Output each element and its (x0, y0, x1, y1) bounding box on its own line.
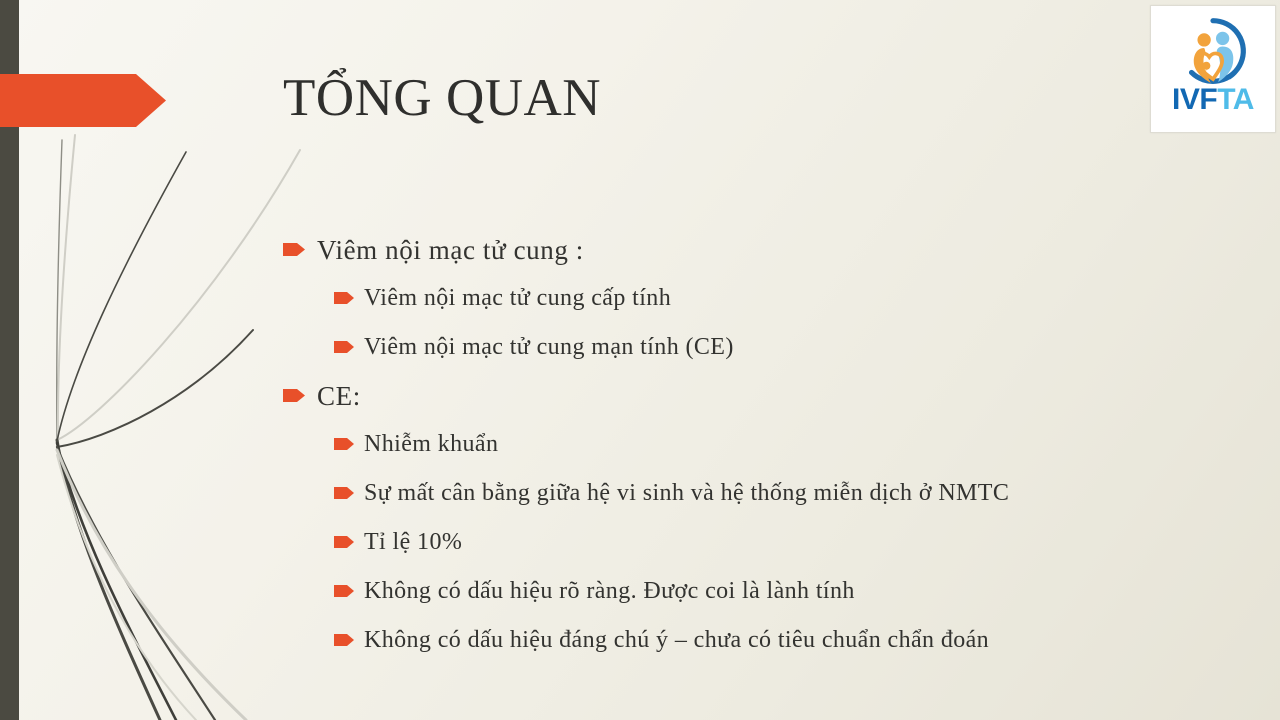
bullet-text: Không có dấu hiệu đáng chú ý – chưa có t… (364, 616, 989, 665)
bullet-item: Viêm nội mạc tử cung cấp tính (334, 274, 1183, 323)
bullet-text: Viêm nội mạc tử cung cấp tính (364, 274, 671, 323)
pennant-bullet-icon (334, 536, 354, 548)
bullet-text: Không có dấu hiệu rõ ràng. Được coi là l… (364, 567, 855, 616)
page-title: TỔNG QUAN (283, 68, 601, 128)
family-heart-emblem-icon (1176, 14, 1250, 88)
bullet-item: Viêm nội mạc tử cung : (283, 226, 1183, 274)
pennant-bullet-icon (334, 487, 354, 499)
pennant-bullet-icon (334, 292, 354, 304)
bullet-item: Sự mất cân bằng giữa hệ vi sinh và hệ th… (334, 469, 1183, 518)
ivfta-logo: IVFTA (1150, 5, 1276, 133)
slide-body: Viêm nội mạc tử cung : Viêm nội mạc tử c… (283, 226, 1183, 665)
bullet-text: Viêm nội mạc tử cung mạn tính (CE) (364, 323, 734, 372)
bullet-text: Tỉ lệ 10% (364, 518, 462, 567)
bullet-item: Không có dấu hiệu rõ ràng. Được coi là l… (334, 567, 1183, 616)
bullet-item: Viêm nội mạc tử cung mạn tính (CE) (334, 323, 1183, 372)
bullet-item: Tỉ lệ 10% (334, 518, 1183, 567)
orange-arrow-banner (0, 74, 166, 127)
pennant-bullet-icon (283, 389, 305, 402)
pennant-bullet-icon (334, 634, 354, 646)
slide-canvas: TỔNG QUAN IVFTA Viêm nội mạc tử cung (0, 0, 1280, 720)
logo-word-part1: IVF (1172, 83, 1217, 116)
bullet-text: Sự mất cân bằng giữa hệ vi sinh và hệ th… (364, 469, 1009, 518)
bullet-text: CE: (317, 372, 361, 420)
logo-word-part2: TA (1217, 83, 1254, 116)
logo-wordmark: IVFTA (1172, 85, 1254, 115)
bullet-text: Viêm nội mạc tử cung : (317, 226, 584, 274)
bullet-item: Nhiễm khuẩn (334, 420, 1183, 469)
bullet-text: Nhiễm khuẩn (364, 420, 498, 469)
pennant-bullet-icon (334, 438, 354, 450)
bullet-item: CE: (283, 372, 1183, 420)
pennant-bullet-icon (283, 243, 305, 256)
pennant-bullet-icon (334, 585, 354, 597)
bullet-item: Không có dấu hiệu đáng chú ý – chưa có t… (334, 616, 1183, 665)
pennant-bullet-icon (334, 341, 354, 353)
